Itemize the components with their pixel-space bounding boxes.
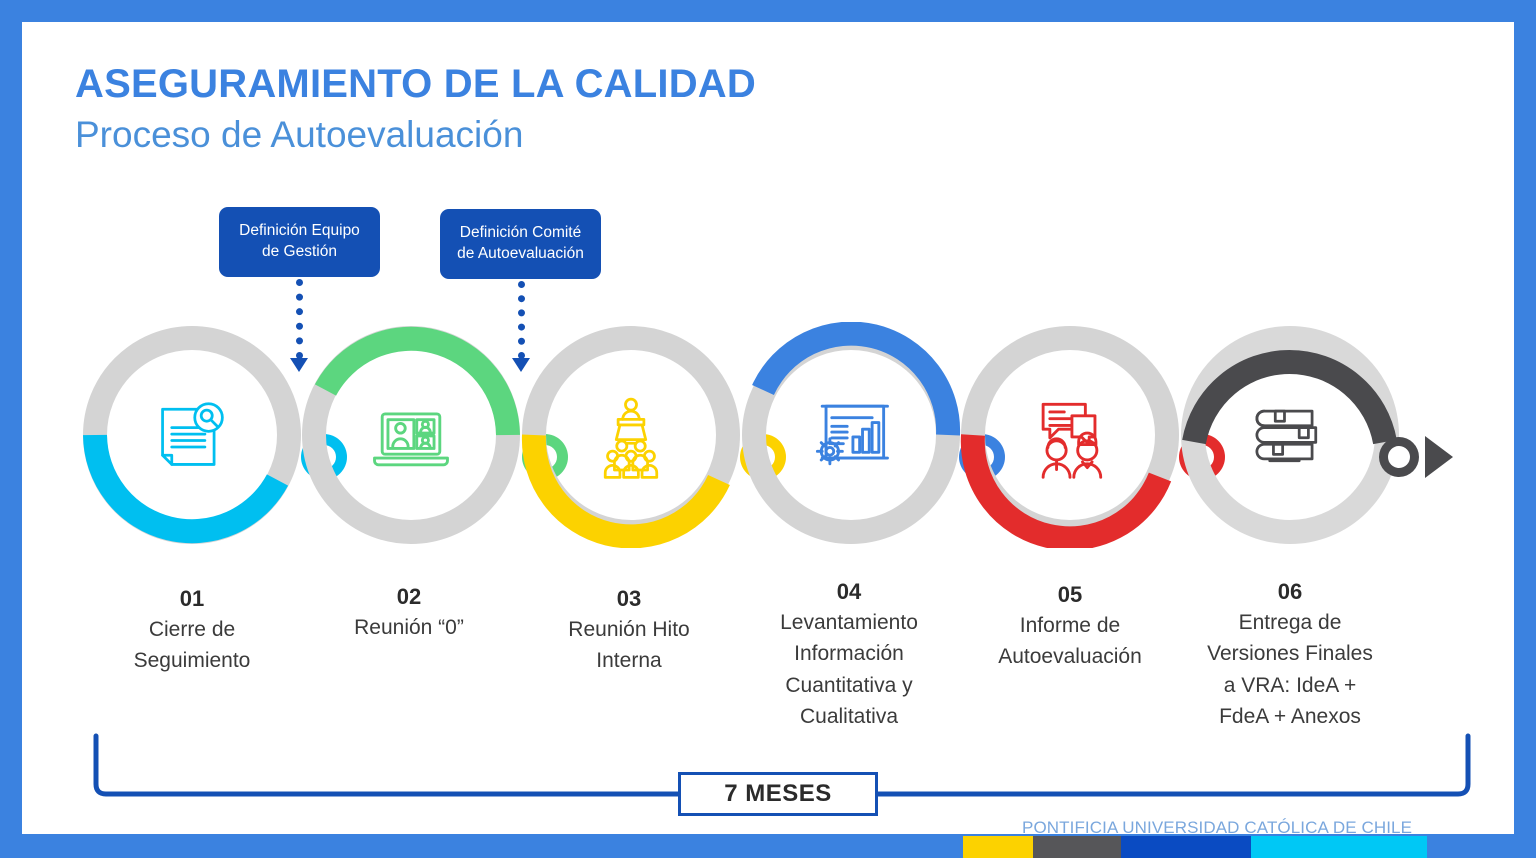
step-number: 04 [734, 577, 964, 607]
slide-frame: ASEGURAMIENTO DE LA CALIDAD Proceso de A… [0, 0, 1536, 858]
chart-board-gear-icon [796, 380, 906, 490]
callout-definicion-comite-autoevaluacion[interactable]: Definición Comité de Autoevaluación [440, 209, 601, 279]
step-text: Cierre de Seguimiento [77, 614, 307, 677]
strip-pad-right [1427, 836, 1536, 858]
podium-audience-icon [576, 380, 686, 490]
callout-definicion-equipo-gestion[interactable]: Definición Equipo de Gestión [219, 207, 380, 277]
laptop-video-call-icon [356, 380, 466, 490]
callout-line-1: Definición Equipo [239, 222, 360, 239]
step-text: Levantamiento Información Cuantitativa y… [734, 607, 964, 733]
strip-segment-dark-blue [1121, 836, 1251, 858]
university-brand-text: PONTIFICIA UNIVERSIDAD CATÓLICA DE CHILE [1022, 818, 1412, 834]
step-circle-05[interactable] [957, 322, 1183, 548]
strip-segment-yellow [963, 836, 1033, 858]
step-text: Reunión Hito Interna [514, 614, 744, 677]
duration-badge: 7 MESES [678, 772, 878, 816]
step-circle-04[interactable] [738, 322, 964, 548]
step-number: 01 [77, 584, 307, 614]
callout-line-2: de Autoevaluación [457, 245, 584, 262]
strip-pad-left [0, 836, 963, 858]
book-stack-icon [1235, 380, 1345, 490]
page-subtitle: Proceso de Autoevaluación [75, 114, 523, 156]
callout-line-2: de Gestión [262, 243, 337, 260]
step-number: 02 [294, 582, 524, 612]
people-speech-bubbles-icon [1015, 380, 1125, 490]
callout-text: Definición Comité de Autoevaluación [457, 223, 584, 265]
step-text: Entrega de Versiones Finales a VRA: IdeA… [1175, 607, 1405, 733]
flow-end-arrow-icon [1377, 420, 1457, 494]
footer-color-strip [0, 836, 1536, 858]
step-number: 06 [1175, 577, 1405, 607]
step-label-05: 05 Informe de Autoevaluación [955, 580, 1185, 673]
step-label-04: 04 Levantamiento Información Cuantitativ… [734, 577, 964, 733]
document-search-icon [137, 380, 247, 490]
strip-segment-cyan [1251, 836, 1427, 858]
strip-segment-gray [1033, 836, 1121, 858]
slide-canvas: ASEGURAMIENTO DE LA CALIDAD Proceso de A… [22, 22, 1514, 834]
callout-text: Definición Equipo de Gestión [239, 221, 360, 263]
step-text: Informe de Autoevaluación [955, 610, 1185, 673]
step-label-06: 06 Entrega de Versiones Finales a VRA: I… [1175, 577, 1405, 733]
step-circle-02[interactable] [298, 322, 524, 548]
step-label-01: 01 Cierre de Seguimiento [77, 584, 307, 677]
step-number: 05 [955, 580, 1185, 610]
step-label-02: 02 Reunión “0” [294, 582, 524, 643]
page-title: ASEGURAMIENTO DE LA CALIDAD [75, 62, 756, 107]
callout-line-1: Definición Comité [460, 224, 581, 241]
step-text: Reunión “0” [294, 612, 524, 644]
step-label-03: 03 Reunión Hito Interna [514, 584, 744, 677]
step-circle-06[interactable] [1177, 322, 1403, 548]
step-number: 03 [514, 584, 744, 614]
step-circle-01[interactable] [79, 322, 305, 548]
step-circle-03[interactable] [518, 322, 744, 548]
